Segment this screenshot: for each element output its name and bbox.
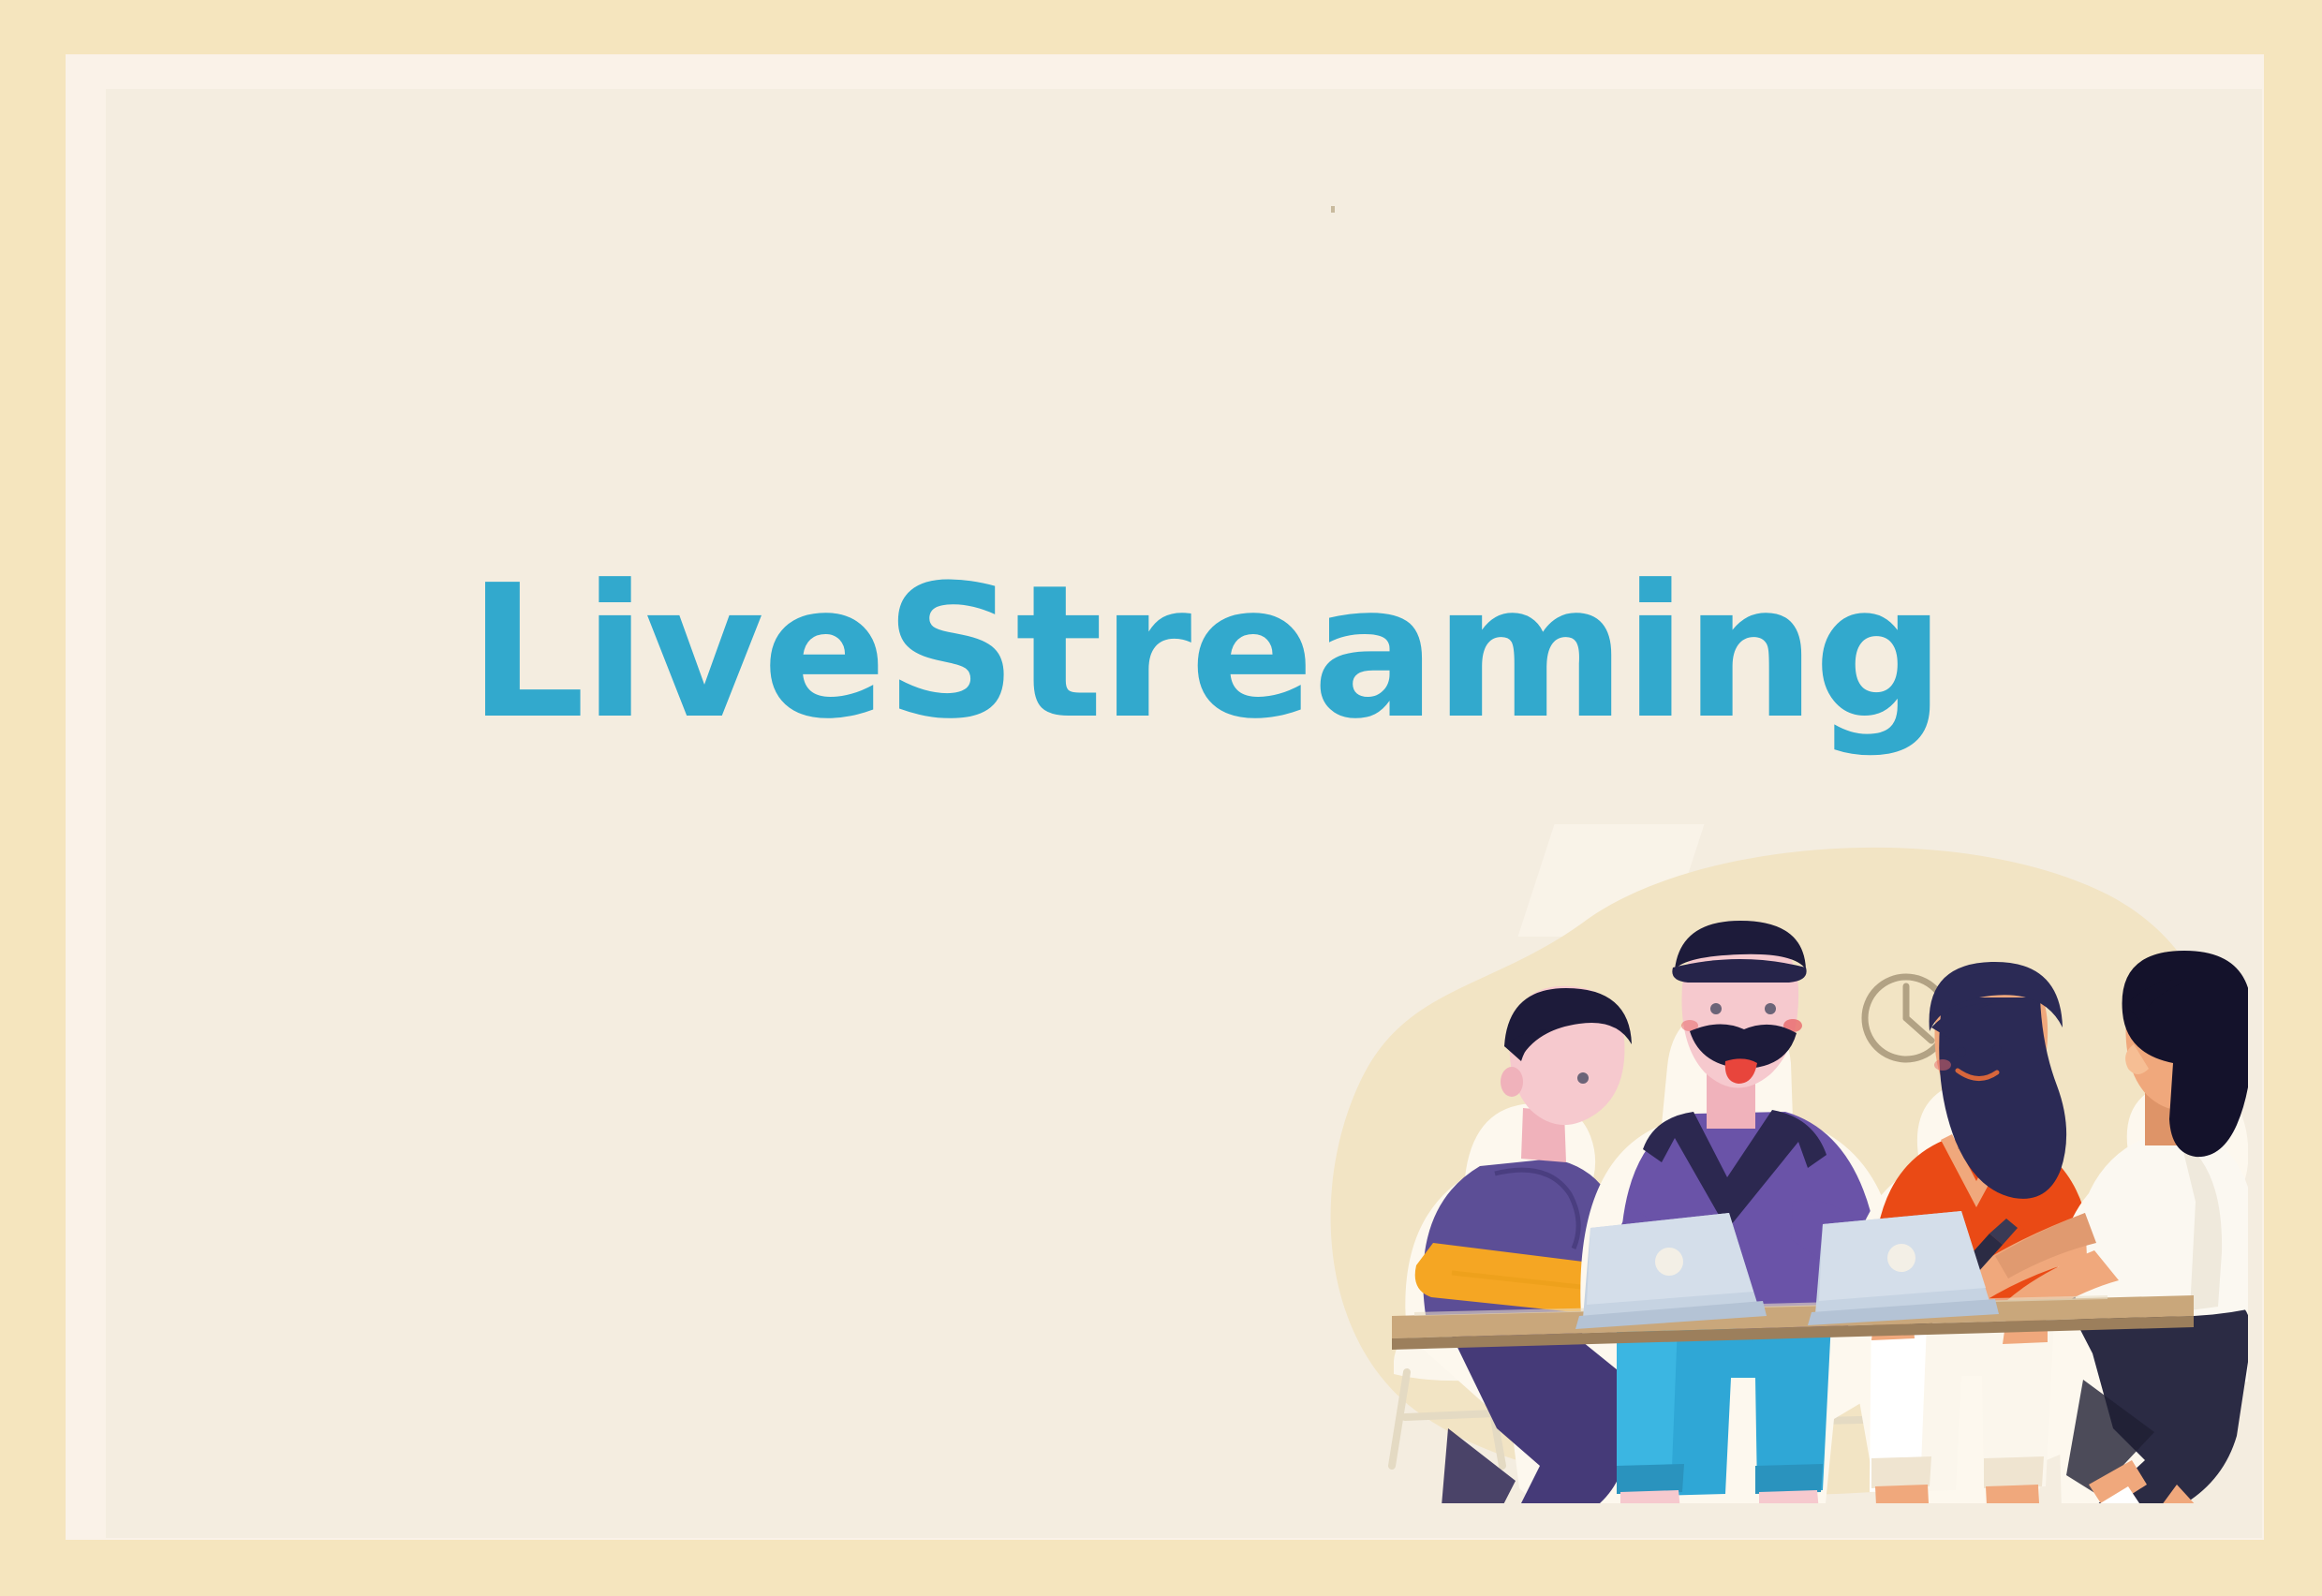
slide-root: LiveStreaming [0, 0, 2322, 1596]
page-title: LiveStreaming [468, 561, 1873, 745]
team-meeting-illustration [1302, 810, 2248, 1503]
page-speck-artifact [1331, 206, 1335, 213]
